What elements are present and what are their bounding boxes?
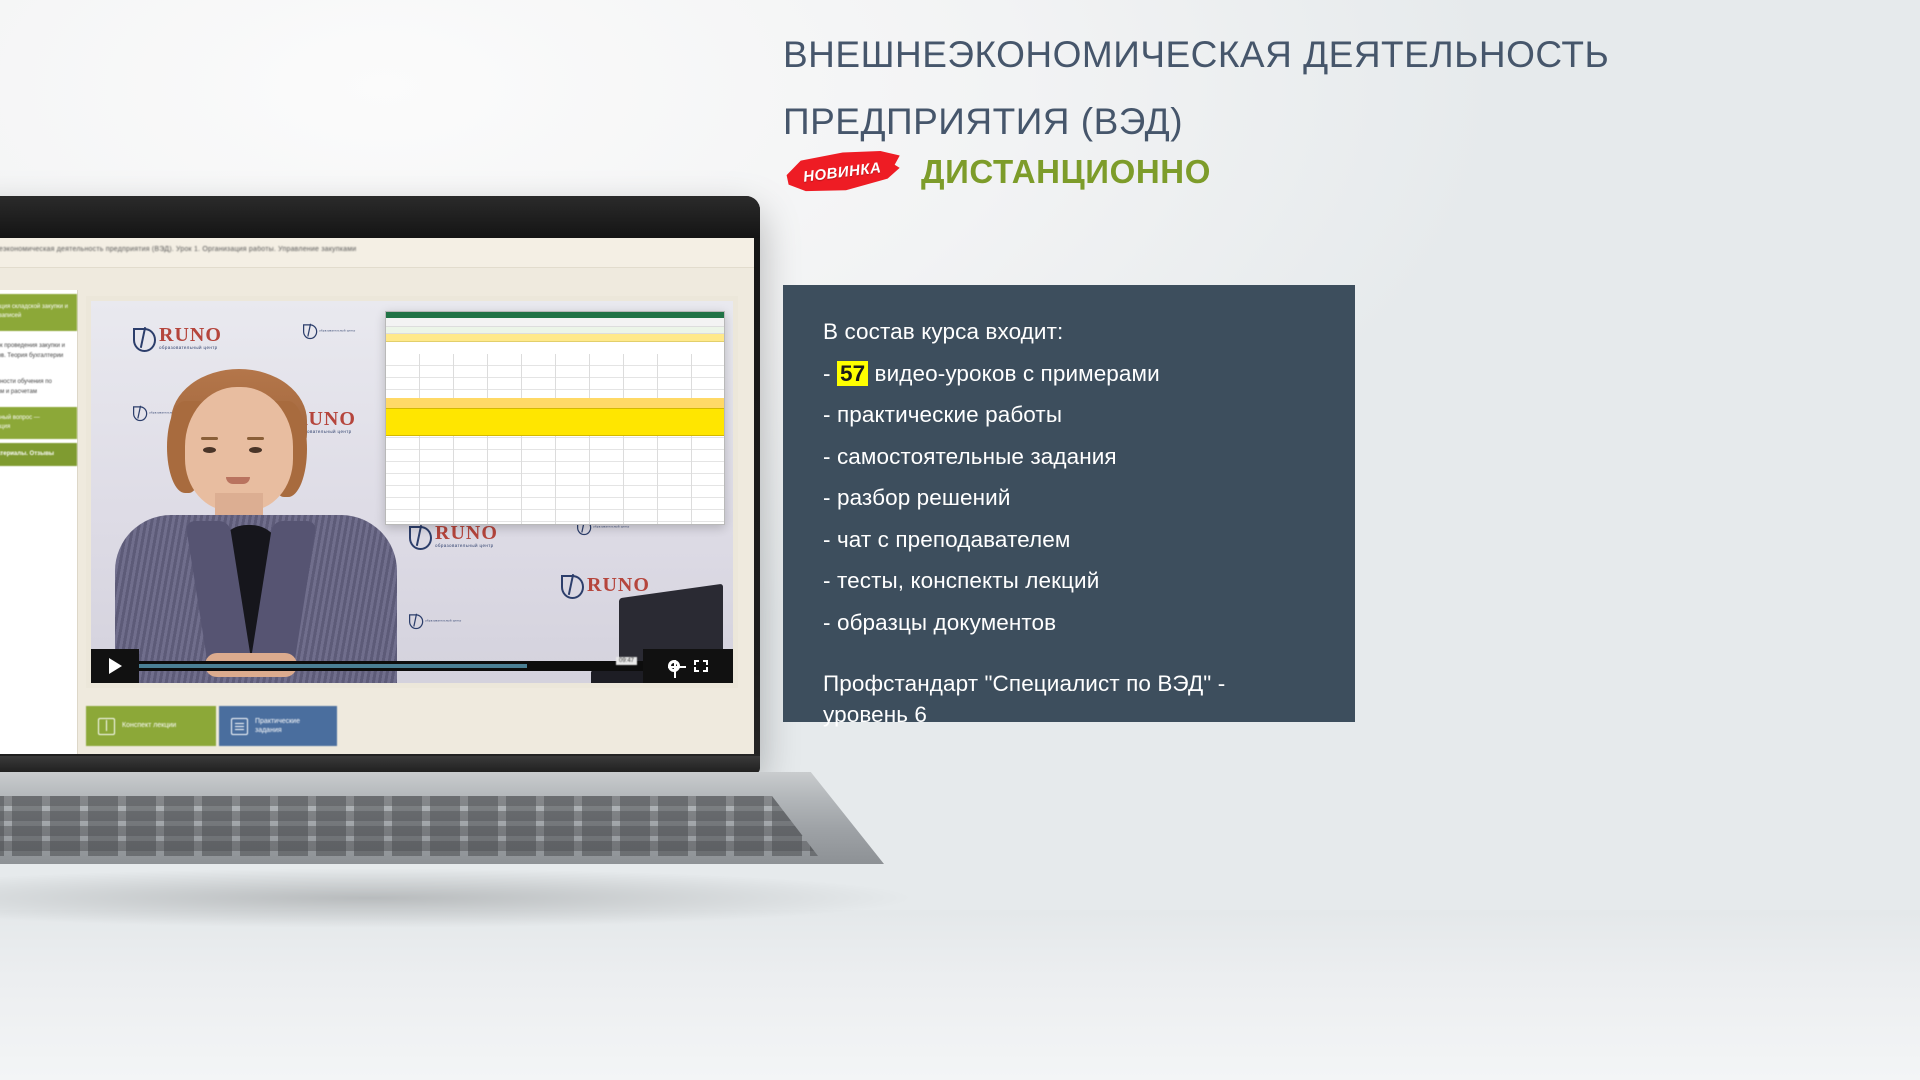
course-item: - самостоятельные задания	[823, 446, 1355, 469]
fullscreen-icon[interactable]	[694, 660, 708, 672]
sidebar-item-3[interactable]: Особенности обучения по закупкам и расче…	[0, 371, 75, 403]
laptop-deck	[0, 772, 884, 864]
presenter-figure	[109, 373, 399, 683]
list-dash: -	[823, 361, 831, 386]
prof-standard-note: Профстандарт "Специалист по ВЭД" - урове…	[823, 668, 1355, 730]
video-progress-fill	[139, 664, 527, 668]
course-item-text: образцы документов	[837, 610, 1056, 635]
browser-title: Внешнеэкономическая деятельность предпри…	[0, 246, 616, 253]
list-dash: -	[823, 444, 831, 469]
video-progress-bar[interactable]	[139, 661, 643, 671]
spreadsheet-ribbon	[386, 318, 724, 327]
sidebar-item-2[interactable]: Порядок проведения закупки и расчетов. Т…	[0, 335, 75, 367]
delivery-mode-label: ДИСТАНЦИОННО	[921, 153, 1211, 191]
tab-lecture-notes[interactable]: Конспект лекции	[86, 706, 216, 746]
runo-subtitle: образовательный центр	[319, 329, 355, 332]
tab-label: Конспект лекции	[122, 721, 176, 730]
page-title-line-2: ПРЕДПРИЯТИЯ (ВЭД)	[783, 99, 1183, 144]
runo-wordmark: RUNO	[435, 523, 498, 543]
runo-logo: RUNO образовательный центр	[409, 523, 498, 548]
presenter-eye-right	[249, 447, 262, 453]
runo-logo: образовательный центр	[303, 323, 355, 338]
sidebar-item-5[interactable]: Аудиоматериалы. Отзывы	[0, 443, 77, 466]
spreadsheet-overlay	[385, 311, 725, 525]
runo-leaf-icon	[409, 524, 431, 548]
sidebar-item-1[interactable]: Организация складской закупки и ведение …	[0, 294, 77, 331]
tab-practical-tasks[interactable]: Практические задания	[219, 706, 337, 746]
tab-label: Практические задания	[255, 717, 325, 736]
book-icon	[98, 718, 115, 735]
course-item: - 57 видео-уроков с примерами	[823, 363, 1355, 386]
list-dash: -	[823, 485, 831, 510]
video-controls[interactable]: 09:47	[91, 649, 733, 683]
play-button[interactable]	[91, 649, 139, 683]
gear-icon[interactable]	[668, 660, 680, 672]
list-dash: -	[823, 610, 831, 635]
runo-subtitle: образовательный центр	[425, 619, 461, 622]
spreadsheet-grid	[386, 354, 724, 524]
course-item: - практические работы	[823, 404, 1355, 427]
presenter-brow-left	[201, 437, 218, 440]
presenter-mouth	[226, 477, 250, 484]
runo-logo: RUNO образовательный центр	[133, 325, 222, 350]
runo-subtitle: образовательный центр	[435, 543, 498, 548]
lms-sidebar: Организация складской закупки и ведение …	[0, 290, 78, 754]
video-player[interactable]: RUNO образовательный центр образовательн…	[86, 296, 738, 688]
laptop-bezel	[0, 196, 760, 238]
sidebar-note	[0, 470, 77, 480]
presenter-eye-left	[203, 447, 216, 453]
runo-logo: образовательный центр	[409, 613, 461, 628]
list-dash: -	[823, 402, 831, 427]
course-item: - образцы документов	[823, 612, 1355, 635]
spreadsheet-ribbon-2	[386, 327, 724, 334]
browser-titlebar: Внешнеэкономическая деятельность предпри…	[0, 238, 754, 268]
video-lesson-count: 57	[837, 361, 868, 386]
document-icon	[231, 718, 248, 735]
new-badge: НОВИНКА	[783, 150, 901, 194]
course-item-text: видео-уроков с примерами	[875, 361, 1160, 386]
course-item: - чат с преподавателем	[823, 529, 1355, 552]
course-contents-heading: В состав курса входит:	[823, 321, 1355, 344]
laptop-screen: Внешнеэкономическая деятельность предпри…	[0, 238, 754, 754]
spreadsheet-highlight-row-b	[386, 408, 724, 436]
runo-subtitle: образовательный центр	[159, 345, 222, 350]
page-background-bottom	[0, 910, 1920, 1080]
prof-standard-line-2: уровень 6	[823, 699, 1355, 730]
badge-row: НОВИНКА ДИСТАНЦИОННО	[783, 150, 1211, 194]
spreadsheet-note-row	[386, 334, 724, 342]
runo-wordmark: RUNO	[159, 325, 222, 345]
list-dash: -	[823, 527, 831, 552]
course-item-text: чат с преподавателем	[837, 527, 1071, 552]
laptop-device: Внешнеэкономическая деятельность предпри…	[0, 196, 800, 796]
course-item-text: тесты, конспекты лекций	[837, 568, 1099, 593]
presenter-brow-right	[247, 437, 264, 440]
page-title-line-1: ВНЕШНЕЭКОНОМИЧЕСКАЯ ДЕЯТЕЛЬНОСТЬ	[783, 32, 1920, 77]
laptop-hinge	[0, 756, 760, 774]
course-item-text: разбор решений	[837, 485, 1011, 510]
video-timecode: 09:47	[616, 657, 637, 665]
sidebar-item-4[interactable]: Контрольный вопрос — Организация	[0, 407, 77, 439]
course-item-text: практические работы	[837, 402, 1062, 427]
course-item: - тесты, конспекты лекций	[823, 570, 1355, 593]
runo-subtitle: образовательный центр	[593, 525, 629, 528]
laptop-shadow	[0, 868, 920, 928]
runo-leaf-icon	[303, 323, 317, 338]
runo-leaf-icon	[409, 613, 423, 628]
prof-standard-line-1: Профстандарт "Специалист по ВЭД" -	[823, 668, 1355, 699]
lesson-tabs[interactable]: Конспект лекции Практические задания	[86, 706, 738, 752]
list-dash: -	[823, 568, 831, 593]
spreadsheet-highlight-row-a	[386, 398, 724, 408]
video-controls-right[interactable]	[643, 649, 733, 683]
course-item: - разбор решений	[823, 487, 1355, 510]
course-item-text: самостоятельные задания	[837, 444, 1117, 469]
course-contents-box: В состав курса входит: - 57 видео-уроков…	[783, 285, 1355, 722]
runo-leaf-icon	[561, 573, 583, 597]
laptop-base	[0, 756, 884, 876]
play-icon	[109, 658, 122, 674]
runo-leaf-icon	[133, 326, 155, 350]
laptop-keyboard	[0, 796, 818, 856]
